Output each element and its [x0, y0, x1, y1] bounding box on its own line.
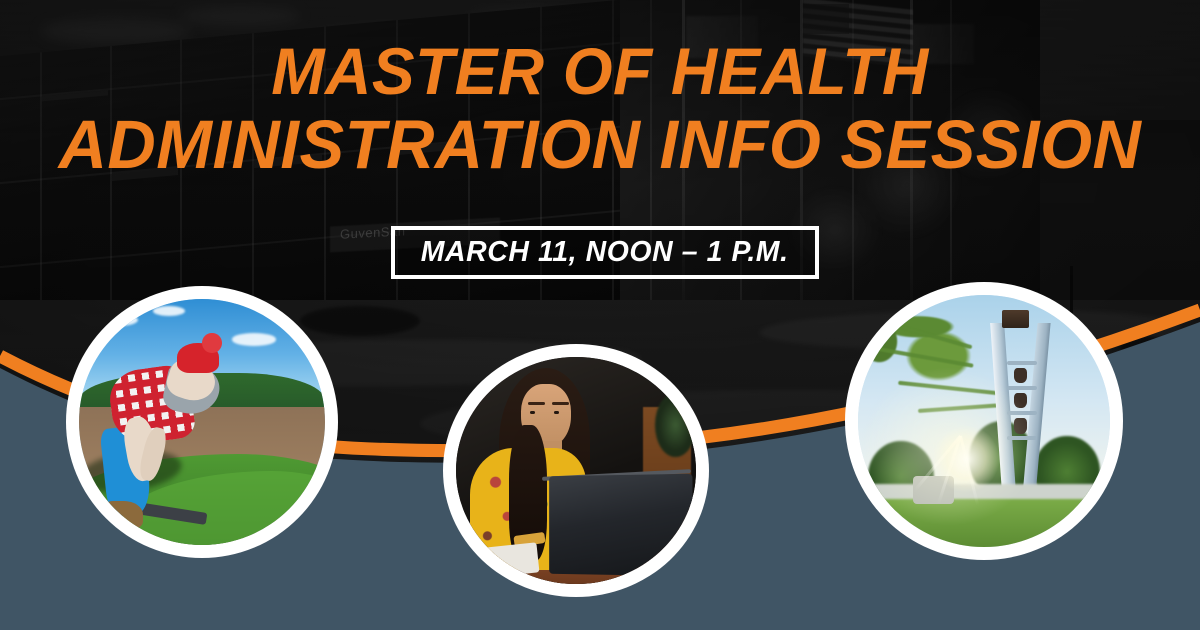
- headline-line-2: ADMINISTRATION INFO SESSION: [18, 108, 1182, 182]
- page-title: MASTER OF HEALTH ADMINISTRATION INFO SES…: [18, 34, 1182, 182]
- headline-line-1: MASTER OF HEALTH: [18, 34, 1182, 108]
- photo-circle-statue-image: [79, 299, 325, 545]
- event-poster: GuvenSan MASTER OF HEALTH ADMINISTRATION…: [0, 0, 1200, 630]
- photo-circle-student-image: [456, 357, 696, 584]
- photo-circle-bell-tower: [845, 282, 1123, 560]
- photo-circle-statue: [66, 286, 338, 558]
- photo-circle-student: [443, 344, 709, 597]
- date-time-banner: MARCH 11, NOON – 1 P.M.: [391, 226, 819, 279]
- date-time-text: MARCH 11, NOON – 1 P.M.: [421, 236, 789, 269]
- photo-circle-bell-tower-image: [858, 295, 1110, 547]
